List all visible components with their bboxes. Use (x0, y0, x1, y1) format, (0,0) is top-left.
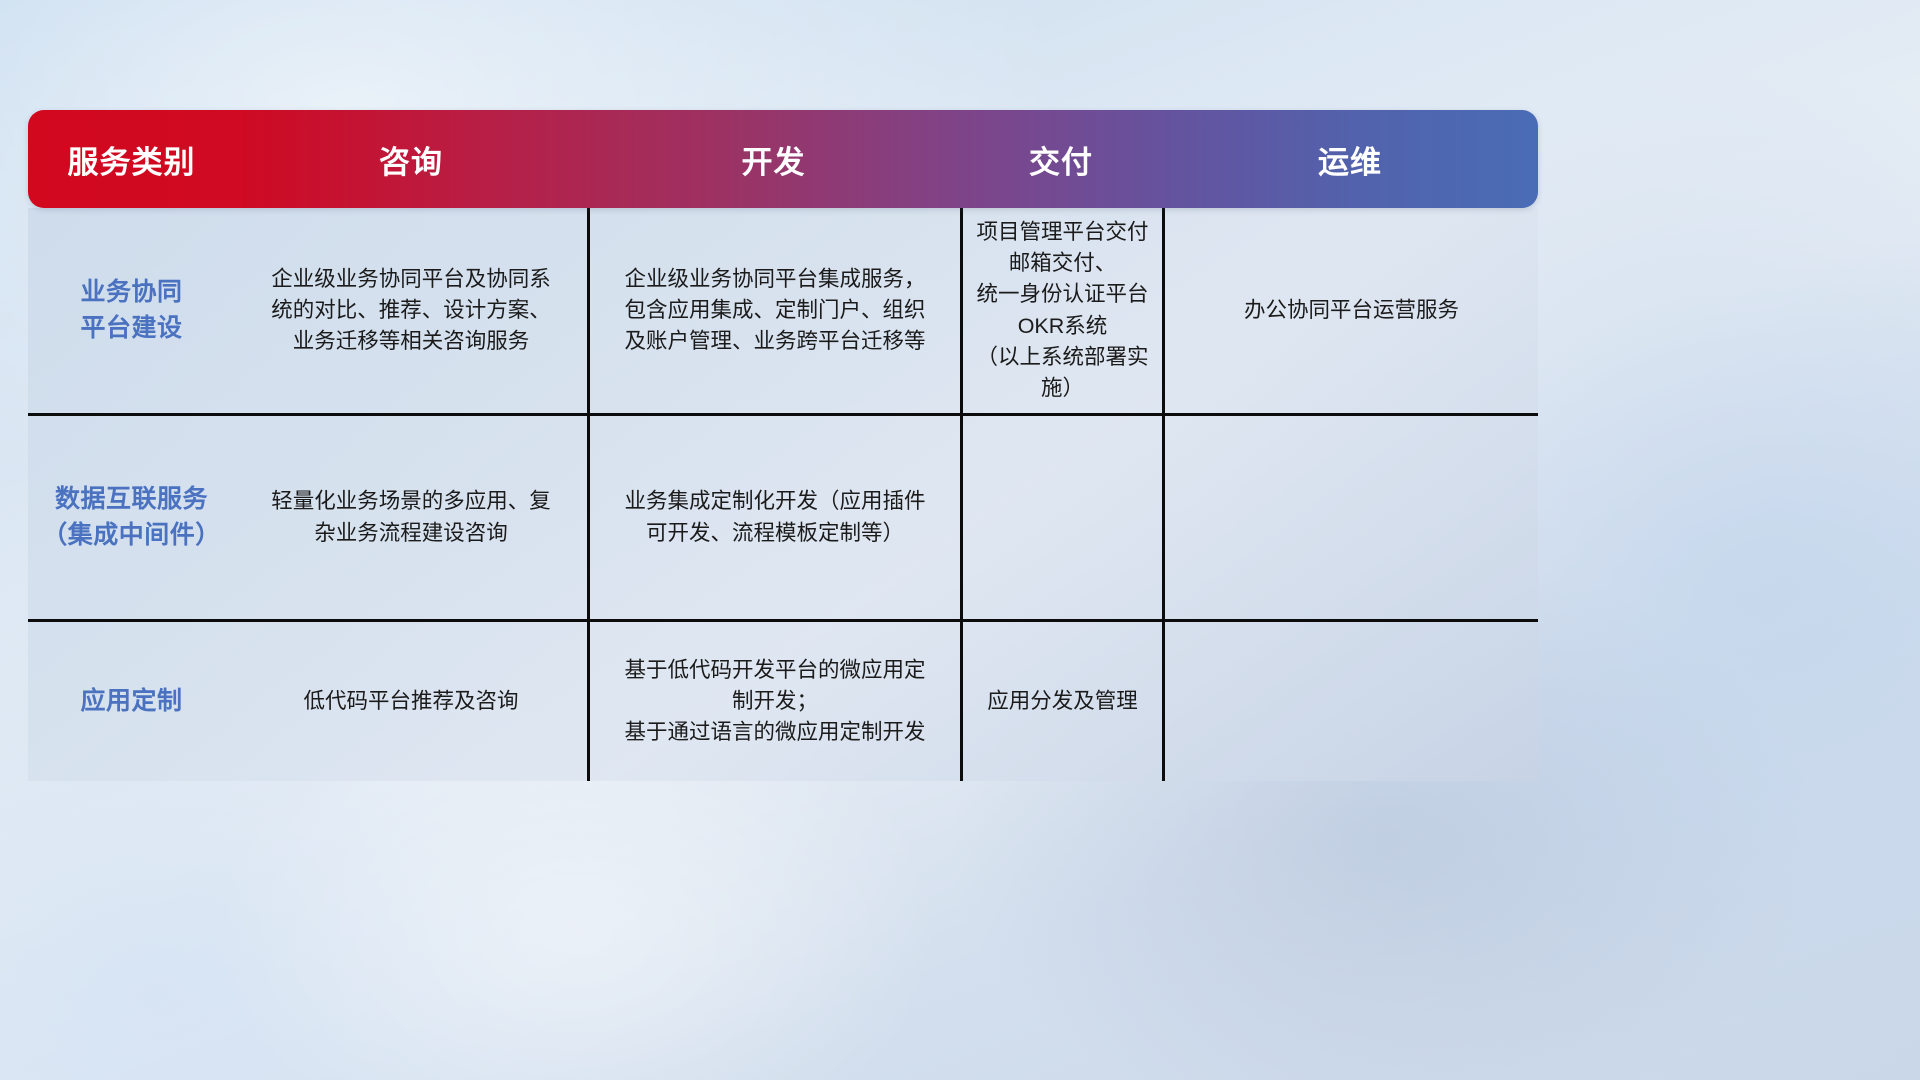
cell-development: 企业级业务协同平台集成服务， 包含应用集成、定制门户、组织 及账户管理、业务跨平… (587, 208, 960, 413)
table-header-row: 服务类别 咨询 开发 交付 运维 (28, 110, 1538, 208)
row-category-label: 业务协同 平台建设 (28, 208, 235, 413)
cell-operations (1162, 416, 1538, 619)
cell-consulting: 低代码平台推荐及咨询 (235, 622, 587, 781)
cell-delivery: 应用分发及管理 (960, 622, 1162, 781)
row-category-label: 应用定制 (28, 622, 235, 781)
cell-development: 基于低代码开发平台的微应用定 制开发； 基于通过语言的微应用定制开发 (587, 622, 960, 781)
row-category-label: 数据互联服务 （集成中间件） (28, 416, 235, 619)
cell-delivery: 项目管理平台交付 邮箱交付、 统一身份认证平台 OKR系统 （以上系统部署实施） (960, 208, 1162, 413)
cell-delivery (960, 416, 1162, 619)
cell-consulting: 轻量化业务场景的多应用、复 杂业务流程建设咨询 (235, 416, 587, 619)
cell-consulting: 企业级业务协同平台及协同系 统的对比、推荐、设计方案、 业务迁移等相关咨询服务 (235, 208, 587, 413)
table-row: 业务协同 平台建设 企业级业务协同平台及协同系 统的对比、推荐、设计方案、 业务… (28, 208, 1538, 413)
cell-development: 业务集成定制化开发（应用插件 可开发、流程模板定制等） (587, 416, 960, 619)
column-header-operations: 运维 (1162, 137, 1538, 182)
column-header-development: 开发 (587, 137, 960, 182)
cell-operations: 办公协同平台运营服务 (1162, 208, 1538, 413)
column-header-service-category: 服务类别 (28, 137, 235, 182)
column-header-delivery: 交付 (960, 137, 1162, 182)
column-header-consulting: 咨询 (235, 137, 587, 182)
service-category-table: 服务类别 咨询 开发 交付 运维 业务协同 平台建设 企业级业务协同平台及协同系… (28, 110, 1538, 772)
cell-operations (1162, 622, 1538, 781)
table-row: 应用定制 低代码平台推荐及咨询 基于低代码开发平台的微应用定 制开发； 基于通过… (28, 619, 1538, 781)
table-row: 数据互联服务 （集成中间件） 轻量化业务场景的多应用、复 杂业务流程建设咨询 业… (28, 413, 1538, 619)
table-body: 业务协同 平台建设 企业级业务协同平台及协同系 统的对比、推荐、设计方案、 业务… (28, 208, 1538, 781)
